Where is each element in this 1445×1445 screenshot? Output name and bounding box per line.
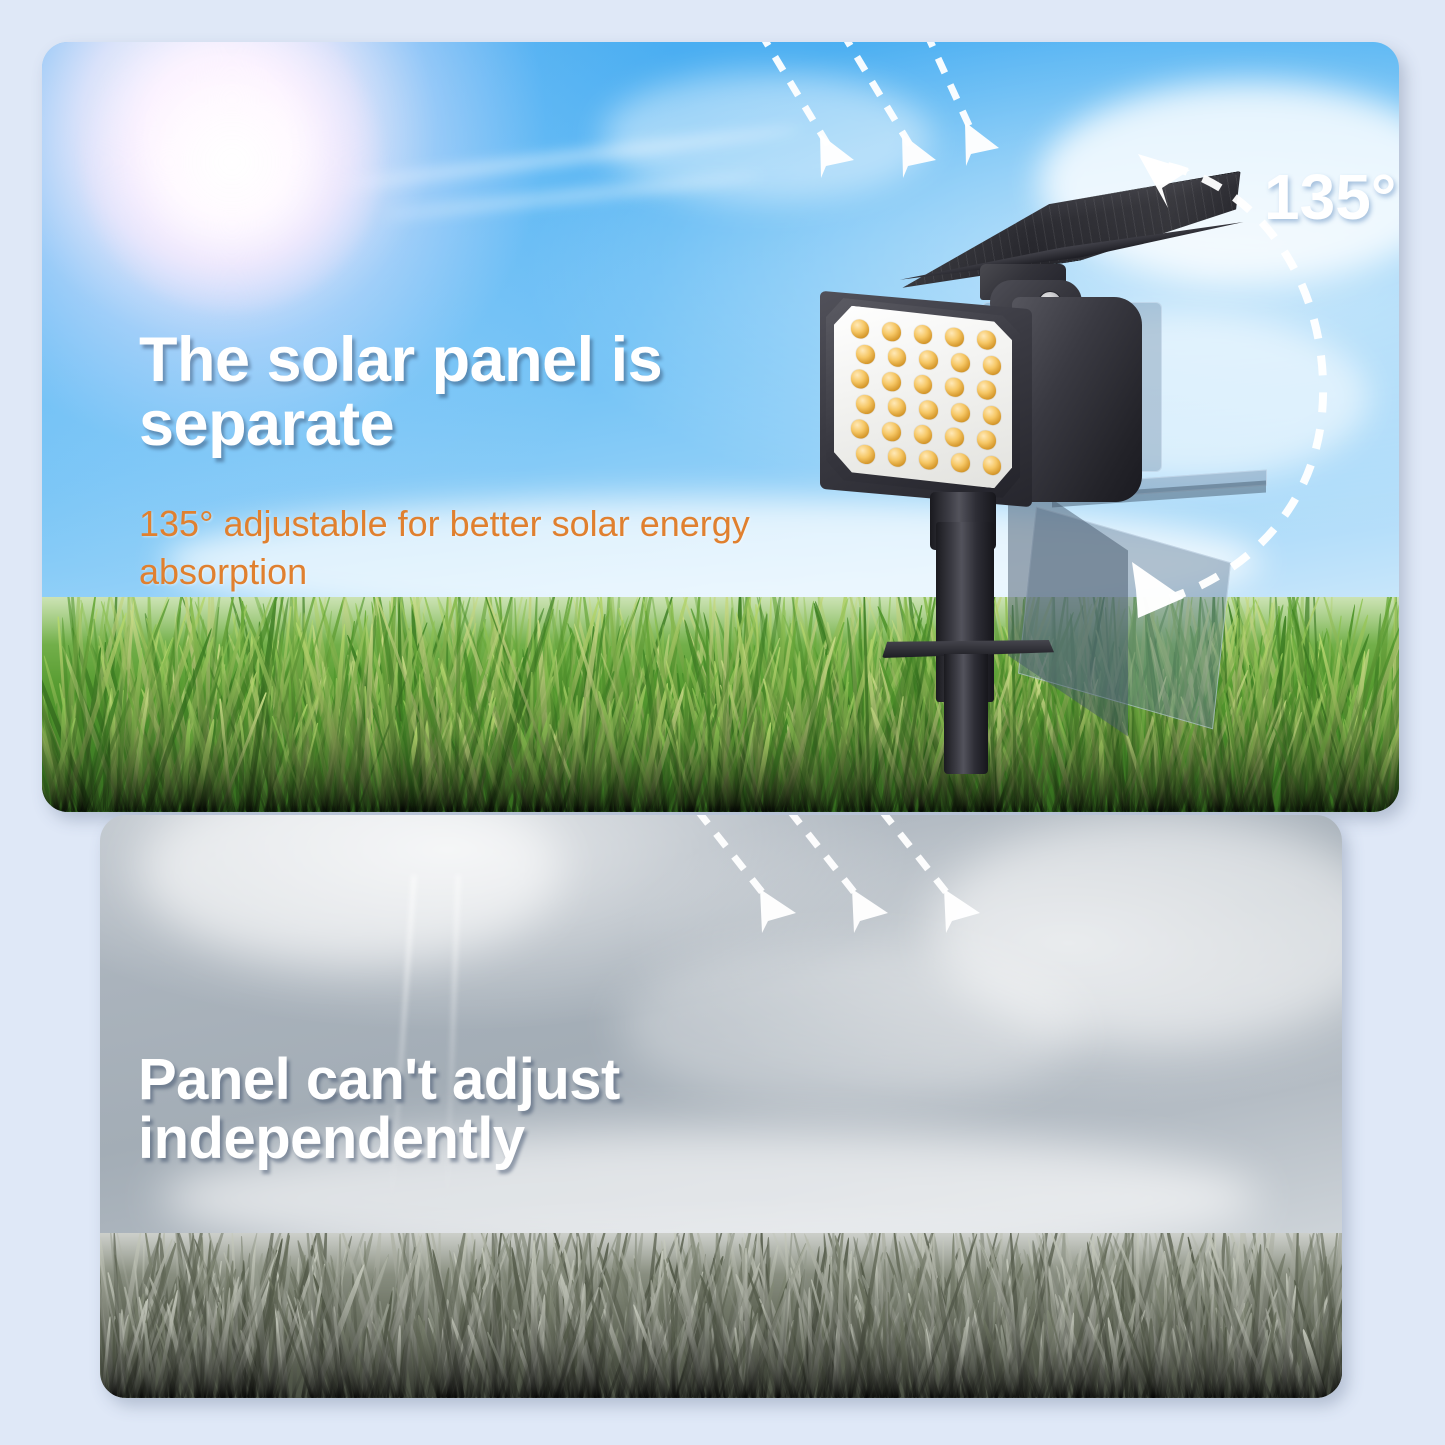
led-lamp: [951, 453, 970, 473]
angle-label: 135°: [1264, 160, 1396, 234]
led-lamp: [882, 422, 901, 442]
comparison-infographic: The solar panel is separate 135° adjusta…: [0, 0, 1445, 1445]
grass-blade: [1163, 1274, 1168, 1398]
led-lamp: [856, 444, 875, 464]
led-lamp: [977, 430, 996, 450]
led-lamp: [945, 427, 964, 447]
led-lamp: [856, 394, 875, 414]
top-subheadline: 135° adjustable for better solar energy …: [139, 500, 799, 595]
ghost-panel-down-edge: [1008, 470, 1128, 737]
led-lamp: [977, 380, 996, 400]
led-lamp: [945, 327, 964, 347]
led-lamp: [945, 377, 964, 397]
led-lamp: [882, 372, 901, 392]
led-lamp: [983, 406, 1002, 426]
ground-stake: [944, 654, 988, 774]
led-lamp: [888, 397, 907, 417]
led-lamp: [851, 369, 870, 389]
led-lamp: [851, 419, 870, 439]
cloud-mid: [602, 72, 932, 202]
led-lamp: [951, 403, 970, 423]
led-lamp: [914, 374, 933, 394]
led-lamp: [914, 424, 933, 444]
led-lamp: [882, 322, 901, 342]
grass-blade: [551, 1247, 557, 1398]
led-lamp: [888, 447, 907, 467]
led-lamp: [919, 350, 938, 370]
led-lamp: [951, 353, 970, 373]
led-lamp: [983, 356, 1002, 376]
led-array-face: [834, 304, 1012, 490]
led-lamp: [856, 344, 875, 364]
top-product-assembly: [812, 192, 1282, 772]
led-lamp: [983, 456, 1002, 476]
led-lamp: [851, 319, 870, 339]
bottom-scene-panel: Panel can't adjust independently: [100, 815, 1342, 1398]
led-lamp: [919, 400, 938, 420]
led-lamp: [977, 330, 996, 350]
gray-grass-blades: [100, 1233, 1342, 1398]
bottom-headline: Panel can't adjust independently: [138, 1050, 758, 1168]
top-headline: The solar panel is separate: [139, 328, 799, 457]
led-lamp: [914, 324, 933, 344]
led-lamp: [888, 347, 907, 367]
led-lamp: [919, 450, 938, 470]
top-scene-panel: The solar panel is separate 135° adjusta…: [42, 42, 1399, 812]
gray-grass-foreground: [100, 1233, 1342, 1398]
